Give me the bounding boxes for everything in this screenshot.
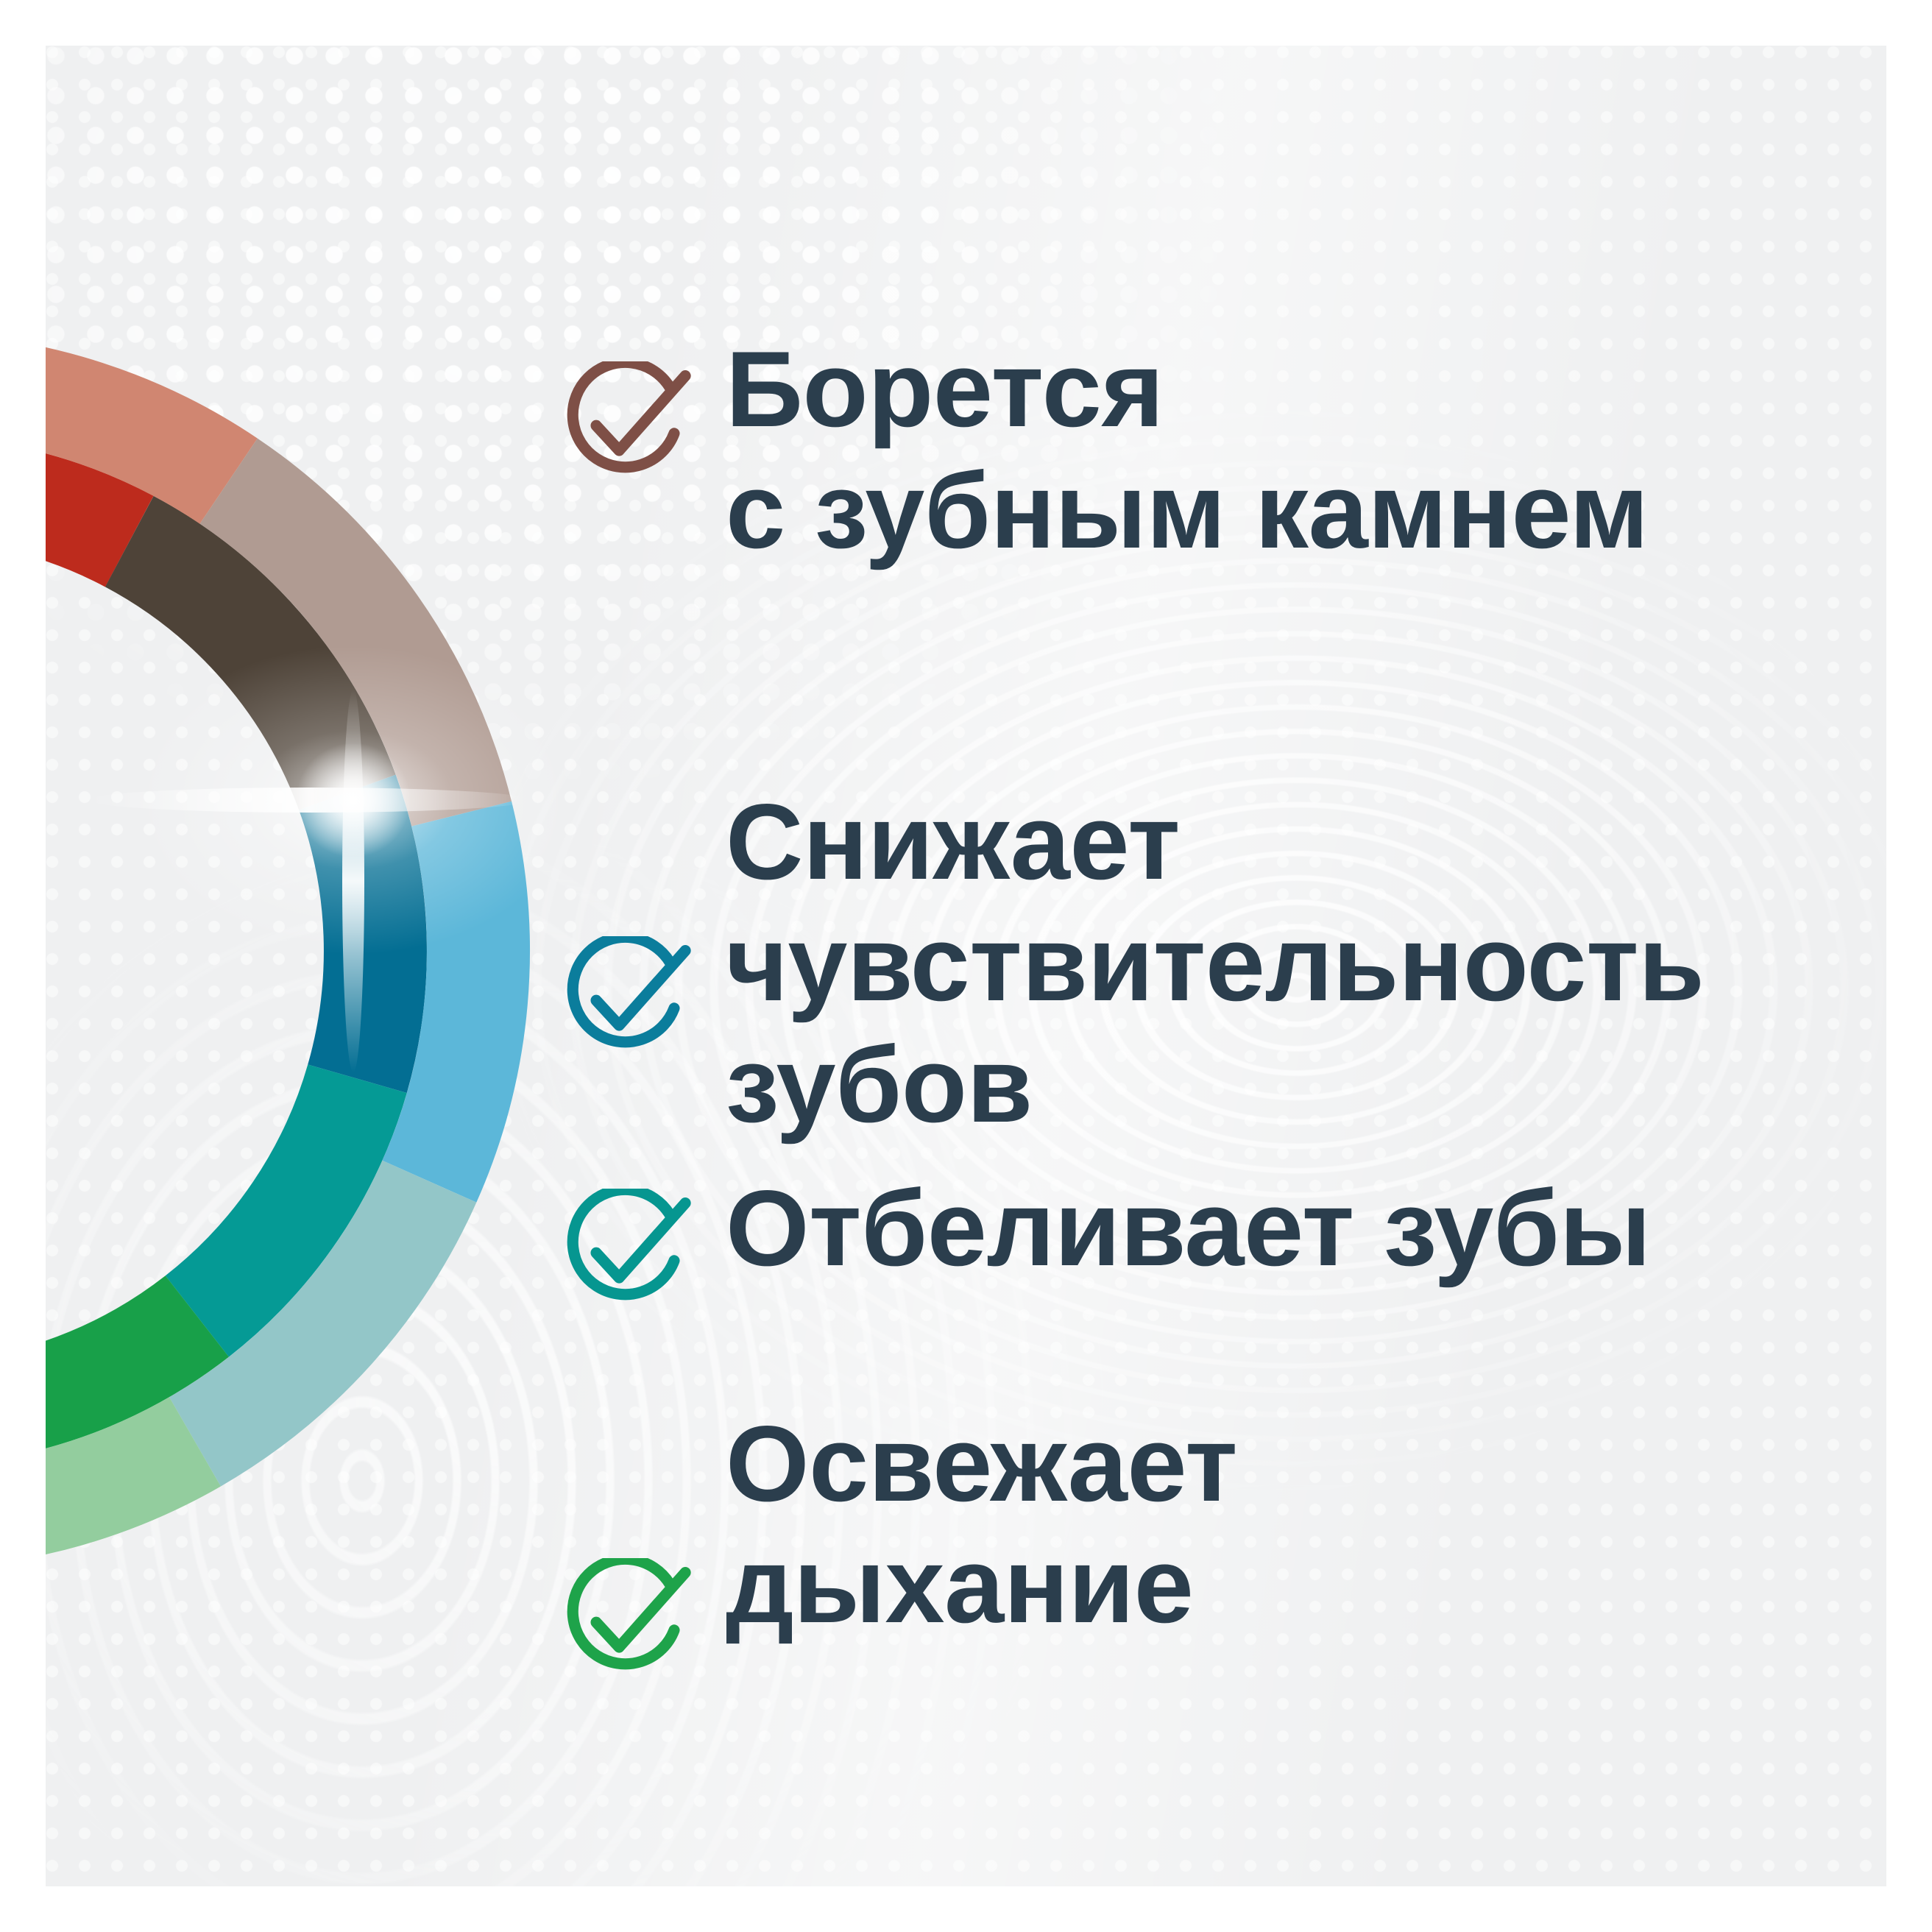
benefit-label: Снижает чувствительность зубов xyxy=(692,782,1878,1146)
list-item: Отбеливает зубы xyxy=(561,1168,1871,1320)
promo-card: Борется с зубным камнем Снижает чувствит… xyxy=(46,46,1886,1886)
list-item: Снижает чувствительность зубов xyxy=(561,782,1878,1146)
check-circle-icon xyxy=(561,1558,692,1689)
check-circle-icon xyxy=(561,1189,692,1320)
benefit-label: Отбеливает зубы xyxy=(692,1168,1871,1289)
check-circle-icon xyxy=(561,361,692,492)
benefit-list: Борется с зубным камнем Снижает чувствит… xyxy=(561,46,1878,1886)
list-item: Освежает дыхание xyxy=(561,1404,1871,1689)
check-circle-icon xyxy=(561,936,692,1067)
benefit-label: Борется с зубным камнем xyxy=(692,329,1871,572)
benefit-label: Освежает дыхание xyxy=(692,1404,1871,1646)
list-item: Борется с зубным камнем xyxy=(561,329,1871,572)
